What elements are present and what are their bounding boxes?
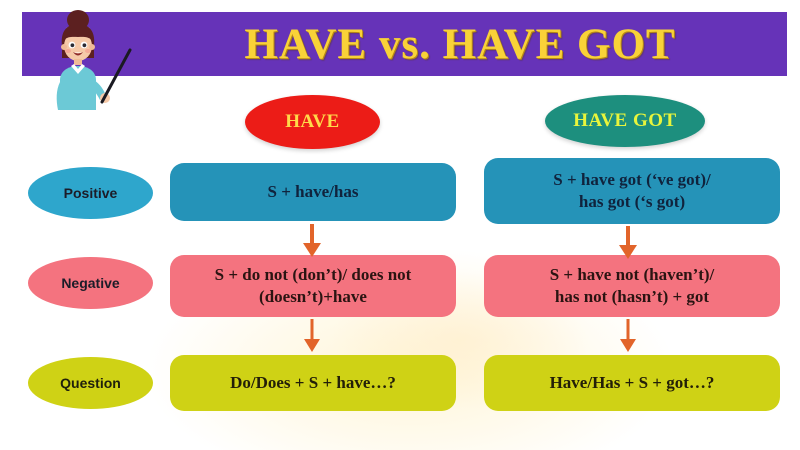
arrow-down-icon xyxy=(301,319,323,353)
cell-text: S + have got (‘ve got)/ has got (‘s got) xyxy=(553,169,710,214)
cell-positive-have-got: S + have got (‘ve got)/ has got (‘s got) xyxy=(484,158,780,224)
teacher-character-icon xyxy=(38,6,134,118)
row-label-positive: Positive xyxy=(28,167,153,219)
cell-negative-have-got: S + have not (haven’t)/ has not (hasn’t)… xyxy=(484,255,780,317)
cell-text: S + have/has xyxy=(268,181,359,203)
arrow-down-icon xyxy=(617,319,639,353)
page-title: HAVE vs. HAVE GOT xyxy=(140,12,780,76)
cell-text: S + have not (haven’t)/ has not (hasn’t)… xyxy=(550,264,715,309)
arrow-down-icon xyxy=(301,224,323,258)
cell-text: Do/Does + S + have…? xyxy=(230,372,396,394)
column-badge-have-got: HAVE GOT xyxy=(545,95,705,147)
column-badge-have: HAVE xyxy=(245,95,380,149)
cell-question-have-got: Have/Has + S + got…? xyxy=(484,355,780,411)
cell-question-have: Do/Does + S + have…? xyxy=(170,355,456,411)
arrow-down-icon xyxy=(617,226,639,260)
cell-positive-have: S + have/has xyxy=(170,163,456,221)
cell-text: S + do not (don’t)/ does not (doesn’t)+h… xyxy=(215,264,412,309)
row-label-question: Question xyxy=(28,357,153,409)
cell-negative-have: S + do not (don’t)/ does not (doesn’t)+h… xyxy=(170,255,456,317)
row-label-negative: Negative xyxy=(28,257,153,309)
infographic-page: HAVE vs. HAVE GOT HAVE HAVE GOT Positive… xyxy=(0,0,800,450)
cell-text: Have/Has + S + got…? xyxy=(550,372,715,394)
